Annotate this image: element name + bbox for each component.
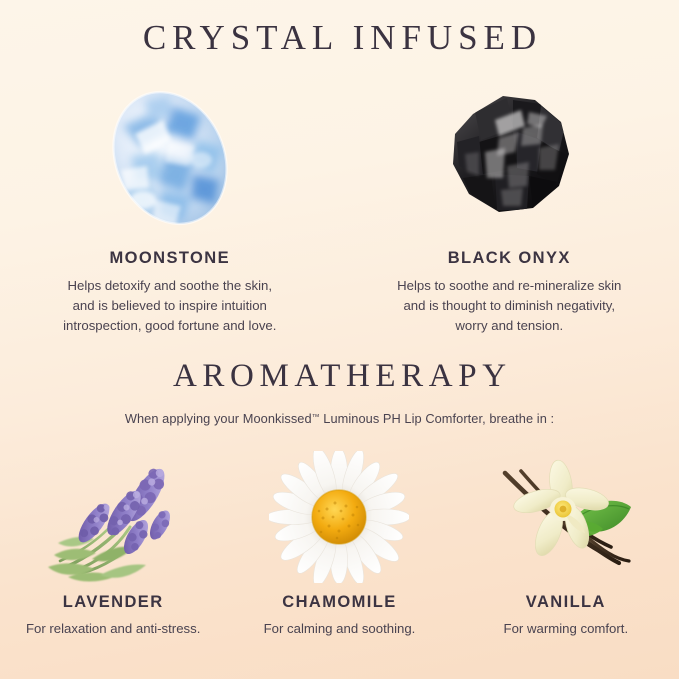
scent-item-vanilla: VANILLA For warming comfort. [453, 443, 679, 636]
aromatherapy-section-title: AROMATHERAPY [0, 360, 679, 393]
vanilla-icon [491, 443, 641, 583]
stone-name-moonstone: MOONSTONE [110, 249, 231, 268]
crystal-stones-row: MOONSTONE Helps detoxify and soothe the … [0, 78, 679, 335]
scent-name-chamomile: CHAMOMILE [282, 593, 396, 612]
stone-description-moonstone: Helps detoxify and soothe the skin, and … [63, 276, 276, 335]
stone-item-moonstone: MOONSTONE Helps detoxify and soothe the … [0, 78, 340, 335]
scent-description-lavender: For relaxation and anti-stress. [26, 621, 200, 636]
scent-item-lavender: LAVENDER For relaxation and anti-stress. [0, 443, 226, 636]
crystal-section-title: CRYSTAL INFUSED [0, 20, 679, 55]
black-onyx-icon [429, 78, 589, 238]
moonstone-icon [97, 78, 243, 238]
trademark-symbol: ™ [312, 413, 320, 422]
chamomile-icon [269, 443, 409, 583]
stone-description-black-onyx: Helps to soothe and re-mineralize skin a… [397, 276, 621, 335]
aromatherapy-subtitle-after: Luminous PH Lip Comforter, breathe in : [320, 411, 554, 426]
scent-name-vanilla: VANILLA [526, 593, 606, 612]
scent-description-chamomile: For calming and soothing. [264, 621, 416, 636]
stone-item-black-onyx: BLACK ONYX Helps to soothe and re-minera… [340, 78, 679, 335]
scent-item-chamomile: CHAMOMILE For calming and soothing. [226, 443, 452, 636]
lavender-icon [38, 443, 188, 583]
aromatherapy-scents-row: LAVENDER For relaxation and anti-stress. [0, 443, 679, 636]
aromatherapy-subtitle: When applying your Moonkissed™ Luminous … [0, 411, 679, 426]
stone-name-black-onyx: BLACK ONYX [448, 249, 571, 268]
product-infographic: CRYSTAL INFUSED [0, 0, 679, 679]
scent-description-vanilla: For warming comfort. [504, 621, 629, 636]
scent-name-lavender: LAVENDER [63, 593, 164, 612]
aromatherapy-subtitle-before: When applying your Moonkissed [125, 411, 312, 426]
